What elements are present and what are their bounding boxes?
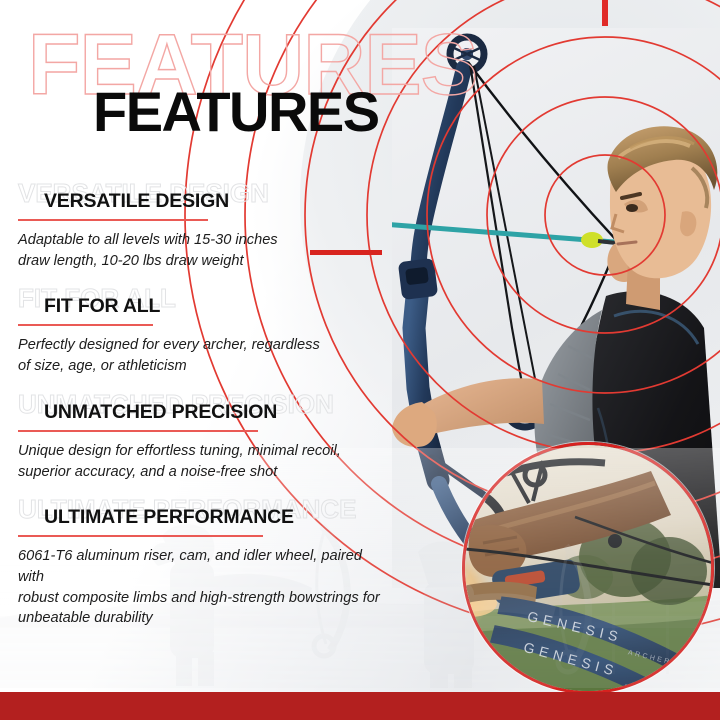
target-top-tick <box>602 0 608 26</box>
feature-title: FIT FOR ALL <box>44 297 160 317</box>
feature-description-line: robust composite limbs and high-strength… <box>18 588 390 609</box>
feature-description: Adaptable to all levels with 15-30 inche… <box>18 230 390 271</box>
page-title-text: FEATURES <box>93 84 379 140</box>
feature-title: UNMATCHED PRECISION <box>44 403 277 423</box>
feature-description-line: of size, age, or athleticism <box>18 356 390 377</box>
feature-description-line: superior accuracy, and a noise-free shot <box>18 462 390 483</box>
feature-title: ULTIMATE PERFORMANCE <box>44 508 294 528</box>
feature-item-fit-for-all: FIT FOR ALL FIT FOR ALL Perfectly design… <box>0 285 410 376</box>
feature-description: 6061-T6 aluminum riser, cam, and idler w… <box>18 546 390 629</box>
feature-description: Perfectly designed for every archer, reg… <box>18 335 390 376</box>
feature-description-line: draw length, 10-20 lbs draw weight <box>18 251 390 272</box>
feature-description-line: 6061-T6 aluminum riser, cam, and idler w… <box>18 546 390 587</box>
feature-title-group: UNMATCHED PRECISION UNMATCHED PRECISION <box>0 391 410 433</box>
feature-underline <box>18 535 263 537</box>
bottom-red-bar <box>0 692 720 720</box>
feature-title-group: FIT FOR ALL FIT FOR ALL <box>0 285 410 327</box>
bow-limb-closeup-photo: GENESIS ARCHERY GENESIS ARCHERY <box>462 442 714 694</box>
feature-description: Unique design for effortless tuning, min… <box>18 441 390 482</box>
feature-title-group: VERSATILE DESIGN VERSATILE DESIGN <box>0 180 410 222</box>
feature-list: VERSATILE DESIGN VERSATILE DESIGN Adapta… <box>0 180 410 643</box>
feature-underline <box>18 219 208 221</box>
feature-title-group: ULTIMATE PERFORMANCE ULTIMATE PERFORMANC… <box>0 496 410 538</box>
feature-description-line: Unique design for effortless tuning, min… <box>18 441 390 462</box>
feature-description-line: unbeatable durability <box>18 608 390 629</box>
feature-item-versatile-design: VERSATILE DESIGN VERSATILE DESIGN Adapta… <box>0 180 410 271</box>
feature-infographic-page: GENESIS ARCHERY GENESIS ARCHERY <box>0 0 720 720</box>
feature-description-line: Perfectly designed for every archer, reg… <box>18 335 390 356</box>
page-title: FEATURES FEATURES <box>0 22 560 142</box>
feature-title: VERSATILE DESIGN <box>44 192 229 212</box>
feature-description-line: Adaptable to all levels with 15-30 inche… <box>18 230 390 251</box>
feature-item-ultimate-performance: ULTIMATE PERFORMANCE ULTIMATE PERFORMANC… <box>0 496 410 629</box>
feature-underline <box>18 430 258 432</box>
feature-item-unmatched-precision: UNMATCHED PRECISION UNMATCHED PRECISION … <box>0 391 410 482</box>
feature-underline <box>18 324 153 326</box>
